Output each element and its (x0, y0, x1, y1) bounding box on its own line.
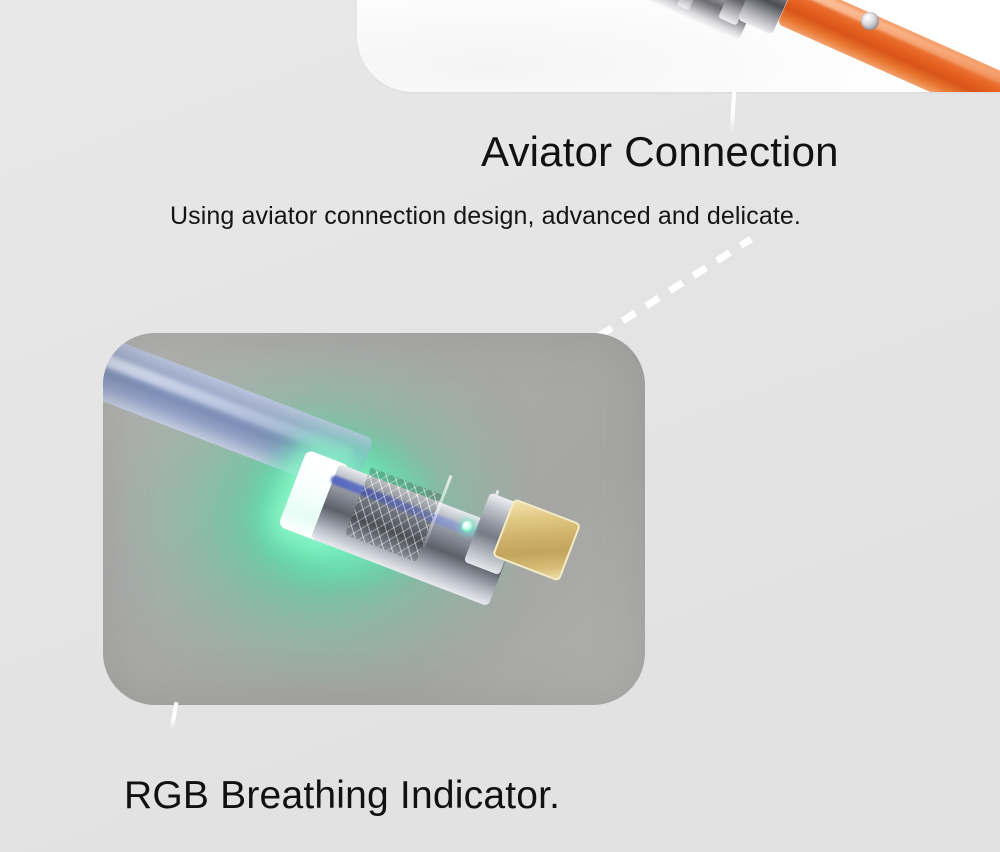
aviator-connector-photo (357, 0, 1000, 92)
connector-screw-icon (861, 12, 879, 30)
rgb-led-indicator-dot (462, 521, 473, 532)
orange-cable (777, 0, 1000, 92)
product-feature-page: Aviator Connection Using aviator connect… (0, 0, 1000, 852)
dashed-leader-line (595, 235, 755, 340)
feature-caption: RGB Breathing Indicator. (124, 774, 560, 818)
card-leader-tick (170, 702, 179, 730)
rgb-cable-photo (103, 333, 645, 705)
rgb-indicator-photo-card (103, 333, 645, 705)
page-title: Aviator Connection (481, 128, 839, 176)
aviator-photo-panel (357, 0, 1000, 92)
page-subtitle: Using aviator connection design, advance… (170, 202, 801, 231)
panel-leader-tick (730, 92, 736, 132)
